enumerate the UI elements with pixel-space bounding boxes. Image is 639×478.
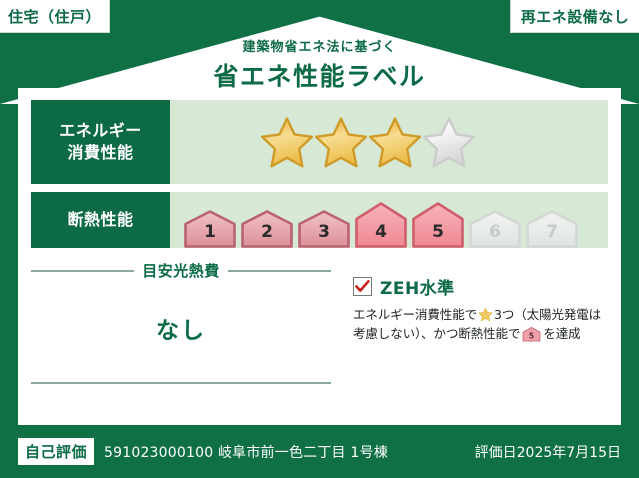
- inline-house-badge: 5: [522, 330, 541, 345]
- house-shape: [297, 210, 351, 248]
- insulation-grade-5: 5: [411, 202, 465, 248]
- zeh-title: ZEH水準: [380, 274, 455, 299]
- self-evaluation-badge: 自己評価: [18, 438, 94, 465]
- zeh-title-row: ZEH水準: [353, 274, 608, 299]
- utility-cost-heading: 目安光熱費: [31, 260, 331, 281]
- insulation-grade-4: 4: [354, 202, 408, 248]
- row-energy-label-line2: 消費性能: [67, 143, 133, 162]
- heading-rule-left: [31, 270, 134, 272]
- zeh-desc-part4: を達成: [543, 326, 580, 341]
- house-shape: [240, 210, 294, 248]
- check-icon: [355, 280, 370, 293]
- heading-rule-right: [228, 270, 331, 272]
- insulation-grade-scale: 1234567: [170, 192, 582, 248]
- insulation-grade-6: 6: [468, 210, 522, 248]
- house-shape: [468, 210, 522, 248]
- header-subtitle: 建築物省エネ法に基づく: [0, 36, 639, 55]
- star-empty-icon: [423, 116, 475, 168]
- row-energy-performance: エネルギー 消費性能: [31, 100, 608, 184]
- zeh-desc-part2: 3つ（太陽光発電: [494, 307, 589, 322]
- row-energy-label-line1: エネルギー: [59, 121, 142, 140]
- utility-cost-value: なし: [31, 311, 331, 345]
- house-shape: [354, 202, 408, 248]
- footer-left-group: 自己評価 591023000100 岐阜市前一色二丁目 1号棟: [18, 438, 475, 465]
- star-rating: [170, 116, 475, 168]
- badge-renewable-energy: 再エネ設備なし: [510, 0, 639, 33]
- footer-id-address: 591023000100 岐阜市前一色二丁目 1号棟: [104, 442, 388, 462]
- zeh-description: エネルギー消費性能で3つ（太陽光発電は考慮しない）、かつ断熱性能で5を達成: [353, 305, 608, 348]
- star-icon: [478, 307, 493, 322]
- house-shape: [525, 210, 579, 248]
- lower-section: 目安光熱費 なし ZEH水準 エネルギー消費性能で3つ（太陽光発電は考慮しない）: [31, 260, 608, 410]
- row-insulation-label-text: 断熱性能: [67, 209, 133, 231]
- badge-building-type-label: 住宅（住戸）: [8, 6, 101, 27]
- inline-house-number: 5: [529, 332, 534, 341]
- header-title: 省エネ性能ラベル: [0, 57, 639, 93]
- zeh-block: ZEH水準 エネルギー消費性能で3つ（太陽光発電は考慮しない）、かつ断熱性能で5…: [353, 274, 608, 348]
- utility-cost-bottom-rule: [31, 382, 331, 384]
- house-shape: [183, 210, 237, 248]
- footer-evaluation-date: 評価日2025年7月15日: [475, 442, 621, 462]
- row-energy-label: エネルギー 消費性能: [31, 100, 170, 184]
- utility-cost-block: 目安光熱費 なし: [31, 260, 331, 345]
- insulation-grade-2: 2: [240, 210, 294, 248]
- zeh-desc-part1: エネルギー消費性能で: [353, 307, 477, 322]
- label-card: エネルギー 消費性能 断熱性能 1234567 目安光熱費: [18, 88, 621, 425]
- insulation-grade-7: 7: [525, 210, 579, 248]
- star-filled-icon: [315, 116, 367, 168]
- star-filled-icon: [261, 116, 313, 168]
- footer-bar: 自己評価 591023000100 岐阜市前一色二丁目 1号棟 評価日2025年…: [0, 425, 639, 478]
- row-insulation-value: 1234567: [170, 192, 608, 248]
- badge-building-type: 住宅（住戸）: [0, 0, 110, 33]
- insulation-grade-3: 3: [297, 210, 351, 248]
- row-energy-value: [170, 100, 608, 184]
- star-filled-icon: [369, 116, 421, 168]
- insulation-grade-1: 1: [183, 210, 237, 248]
- house-shape: [411, 202, 465, 248]
- row-insulation-performance: 断熱性能 1234567: [31, 192, 608, 248]
- utility-cost-heading-label: 目安光熱費: [142, 260, 220, 281]
- zeh-checkbox[interactable]: [353, 277, 372, 296]
- badge-renewable-energy-label: 再エネ設備なし: [521, 6, 630, 27]
- header-title-group: 建築物省エネ法に基づく 省エネ性能ラベル: [0, 36, 639, 93]
- row-insulation-label: 断熱性能: [31, 192, 170, 248]
- energy-performance-label: 住宅（住戸） 再エネ設備なし 建築物省エネ法に基づく 省エネ性能ラベル エネルギ…: [0, 0, 639, 478]
